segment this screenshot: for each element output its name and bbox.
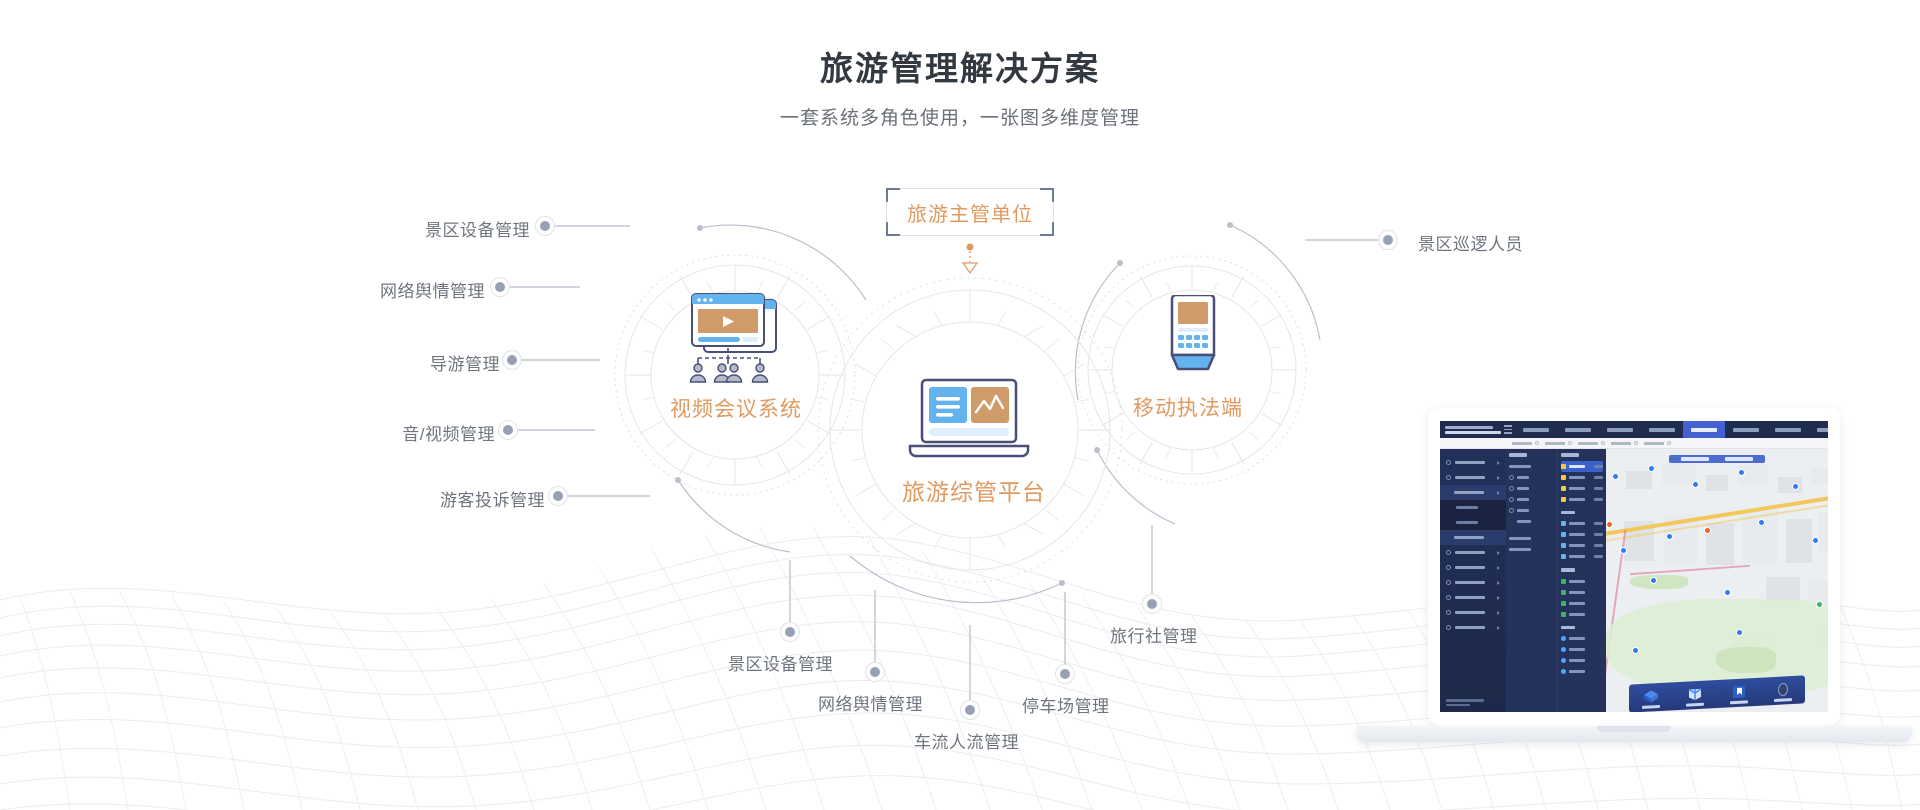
tree-node[interactable] <box>1509 483 1554 494</box>
handheld-device-icon <box>1158 295 1228 385</box>
layer-row[interactable] <box>1561 551 1603 562</box>
laptop-dashboard-icon <box>906 378 1032 464</box>
layer-row[interactable] <box>1561 518 1603 529</box>
sidebar-item[interactable] <box>1440 560 1506 575</box>
ring-caption-tourism-platform: 旅游综管平台 <box>902 473 1046 507</box>
right-label-0[interactable]: 景区巡逻人员 <box>1418 230 1523 255</box>
bottom-node-dot-4[interactable] <box>1142 594 1162 614</box>
sidebar-footer <box>1446 699 1484 706</box>
nav-item-4[interactable] <box>1641 421 1683 438</box>
map-module[interactable] <box>1686 687 1704 707</box>
map-module[interactable] <box>1730 684 1748 704</box>
dashboard-screenshot[interactable] <box>1440 421 1828 712</box>
layer-row[interactable] <box>1561 483 1603 494</box>
tree-node[interactable] <box>1509 494 1554 505</box>
nav-item-3[interactable] <box>1599 421 1641 438</box>
left-label-1[interactable]: 网络舆情管理 <box>150 277 485 302</box>
left-node-dot-3[interactable] <box>498 420 518 440</box>
nav-item-active[interactable] <box>1683 421 1725 438</box>
left-node-dot-1[interactable] <box>490 277 510 297</box>
tab-chip[interactable] <box>1578 441 1605 445</box>
nav-item-6[interactable] <box>1725 421 1767 438</box>
left-label-3[interactable]: 音/视频管理 <box>160 420 495 445</box>
panel-region-tree[interactable] <box>1506 449 1558 712</box>
panel-layer-list[interactable] <box>1558 449 1606 712</box>
authority-label: 旅游主管单位 <box>907 198 1033 227</box>
nav-item-2[interactable] <box>1557 421 1599 438</box>
left-label-4[interactable]: 游客投诉管理 <box>210 486 545 511</box>
bottom-label-1[interactable]: 网络舆情管理 <box>818 690 923 715</box>
dashboard-topbar <box>1440 421 1828 438</box>
sidebar-item[interactable] <box>1440 470 1506 485</box>
sidebar-item[interactable] <box>1440 605 1506 620</box>
left-node-dot-2[interactable] <box>502 350 522 370</box>
sidebar-subitem[interactable] <box>1440 500 1506 515</box>
bottom-connectors <box>790 525 1152 700</box>
map-module[interactable] <box>1774 682 1792 702</box>
left-label-0[interactable]: 景区设备管理 <box>200 216 530 241</box>
tree-node[interactable] <box>1509 505 1554 516</box>
bottom-label-3[interactable]: 停车场管理 <box>1022 692 1110 717</box>
bottom-node-dot-3[interactable] <box>1055 664 1075 684</box>
layer-row[interactable] <box>1561 540 1603 551</box>
left-label-2[interactable]: 导游管理 <box>190 350 500 375</box>
map-view-toggle[interactable] <box>1669 455 1765 463</box>
dashboard-layer-panel[interactable] <box>1506 449 1606 712</box>
bottom-label-0[interactable]: 景区设备管理 <box>728 650 833 675</box>
bottom-node-dot-1[interactable] <box>865 662 885 682</box>
page-title: 旅游管理解决方案 <box>0 42 1920 90</box>
laptop-notch <box>1597 726 1671 732</box>
tree-node[interactable] <box>1509 544 1554 555</box>
page-root: 旅游管理解决方案 一套系统多角色使用，一张图多维度管理 <box>0 0 1920 810</box>
tree-node[interactable] <box>1509 533 1554 544</box>
layer-row[interactable] <box>1561 587 1603 598</box>
tab-chip[interactable] <box>1545 441 1572 445</box>
sidebar-item[interactable] <box>1440 590 1506 605</box>
tree-node[interactable] <box>1509 472 1554 483</box>
layer-row[interactable] <box>1561 576 1603 587</box>
bottom-node-dot-2[interactable] <box>960 700 980 720</box>
nav-item-7[interactable] <box>1767 421 1809 438</box>
tree-node[interactable] <box>1509 516 1554 527</box>
bottom-node-dot-0[interactable] <box>780 622 800 642</box>
sidebar-item[interactable] <box>1440 620 1506 635</box>
tab-chip[interactable] <box>1611 441 1638 445</box>
laptop-bezel <box>1428 408 1840 726</box>
laptop-mockup <box>1356 408 1912 780</box>
dashboard-sidebar[interactable] <box>1440 449 1506 712</box>
layer-row[interactable] <box>1561 655 1603 666</box>
layer-row[interactable] <box>1561 633 1603 644</box>
layer-row[interactable] <box>1561 666 1603 677</box>
layer-row-active[interactable] <box>1561 461 1603 472</box>
layer-row[interactable] <box>1561 494 1603 505</box>
tree-node[interactable] <box>1509 461 1554 472</box>
dashboard-nav[interactable] <box>1501 421 1828 438</box>
sidebar-item[interactable] <box>1440 545 1506 560</box>
sidebar-item[interactable] <box>1440 575 1506 590</box>
ring-caption-video-conference: 视频会议系统 <box>670 393 802 423</box>
bottom-label-4[interactable]: 旅行社管理 <box>1110 622 1198 647</box>
dashboard-3d-map[interactable] <box>1606 449 1828 712</box>
tab-chip[interactable] <box>1644 441 1671 445</box>
layer-row[interactable] <box>1561 644 1603 655</box>
dashboard-tabstrip[interactable] <box>1440 438 1828 449</box>
layer-row[interactable] <box>1561 609 1603 620</box>
sidebar-item[interactable] <box>1440 530 1506 545</box>
menu-toggle-icon[interactable] <box>1501 425 1515 434</box>
bottom-label-2[interactable]: 车流人流管理 <box>914 728 1019 753</box>
map-module[interactable] <box>1642 689 1660 709</box>
authority-connector <box>963 244 977 274</box>
right-node-dot-0[interactable] <box>1378 230 1398 250</box>
authority-box[interactable]: 旅游主管单位 <box>886 188 1054 236</box>
nav-item-1[interactable] <box>1515 421 1557 438</box>
left-node-dot-4[interactable] <box>548 486 568 506</box>
layer-row[interactable] <box>1561 529 1603 540</box>
tab-chip[interactable] <box>1512 441 1539 445</box>
layer-row[interactable] <box>1561 472 1603 483</box>
dashboard-logo <box>1440 421 1501 438</box>
left-node-dot-0[interactable] <box>535 216 555 236</box>
page-subtitle: 一套系统多角色使用，一张图多维度管理 <box>0 103 1920 130</box>
video-conference-icon <box>676 292 794 390</box>
sidebar-item[interactable] <box>1440 455 1506 470</box>
sidebar-item-selected[interactable] <box>1440 485 1506 500</box>
nav-item-8[interactable] <box>1809 421 1828 438</box>
layer-row[interactable] <box>1561 598 1603 609</box>
ring-caption-mobile-enforcement: 移动执法端 <box>1133 392 1243 422</box>
sidebar-subitem[interactable] <box>1440 515 1506 530</box>
left-connectors <box>510 226 650 496</box>
